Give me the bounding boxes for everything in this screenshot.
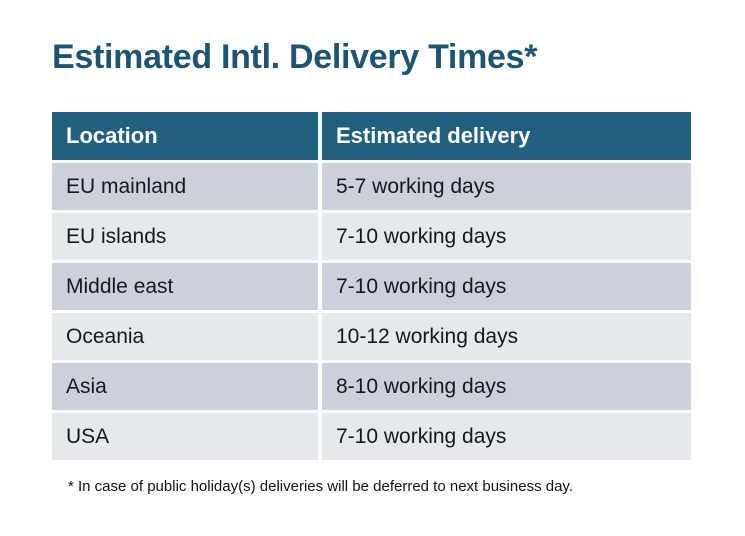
page-title: Estimated Intl. Delivery Times* (52, 37, 537, 78)
cell-location: EU islands (52, 213, 318, 260)
cell-delivery: 7-10 working days (322, 263, 691, 310)
table-row: EU islands 7-10 working days (52, 213, 691, 260)
cell-location: Asia (52, 363, 318, 410)
cell-delivery: 7-10 working days (322, 413, 691, 460)
delivery-times-table: Location Estimated delivery EU mainland … (52, 112, 691, 460)
column-header-estimated-delivery: Estimated delivery (322, 112, 691, 160)
cell-delivery: 10-12 working days (322, 313, 691, 360)
table-row: EU mainland 5-7 working days (52, 163, 691, 210)
cell-location: Oceania (52, 313, 318, 360)
cell-delivery: 7-10 working days (322, 213, 691, 260)
cell-delivery: 5-7 working days (322, 163, 691, 210)
cell-location: USA (52, 413, 318, 460)
cell-location: Middle east (52, 263, 318, 310)
table-row: USA 7-10 working days (52, 413, 691, 460)
table-row: Middle east 7-10 working days (52, 263, 691, 310)
cell-location: EU mainland (52, 163, 318, 210)
table-header-row: Location Estimated delivery (52, 112, 691, 160)
delivery-times-page: Estimated Intl. Delivery Times* Location… (0, 0, 745, 536)
cell-delivery: 8-10 working days (322, 363, 691, 410)
column-header-location: Location (52, 112, 318, 160)
footnote-text: * In case of public holiday(s) deliverie… (68, 478, 573, 495)
table-row: Asia 8-10 working days (52, 363, 691, 410)
table-row: Oceania 10-12 working days (52, 313, 691, 360)
